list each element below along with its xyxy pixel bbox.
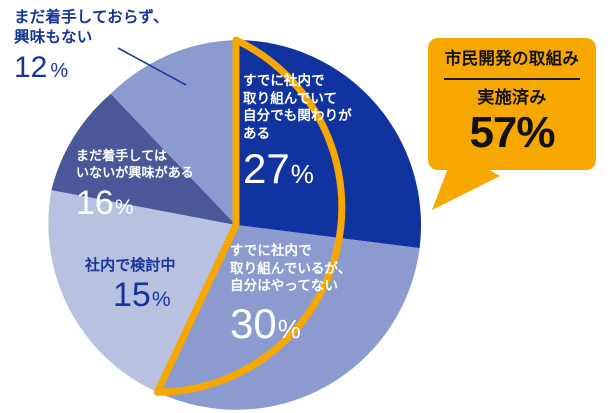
slice-label-already-not-involved: すでに社内で 取り組んでいるが、 自分はやってない 30% (230, 242, 405, 345)
chart-canvas: まだ着手しておらず、 興味もない 12% すでに社内で 取り組んでいて 自分でも… (0, 0, 613, 413)
slice-number: 12 (14, 51, 47, 84)
percent-sign: % (152, 288, 171, 311)
callout-divider (444, 78, 580, 80)
slice-number: 15 (113, 276, 151, 314)
slice-value-not-started-no-interest: 12% (14, 53, 224, 83)
percent-sign: % (278, 314, 301, 344)
slice-label-text-line-1: すでに社内で (230, 242, 405, 260)
slice-value-already-involved: 27% (243, 148, 403, 190)
slice-number: 16 (76, 184, 114, 222)
slice-label-text-line-1: 社内で検討中 (85, 256, 225, 276)
slice-label-text-line-2: 取り組んでいるが、 (230, 260, 405, 278)
callout-title: 市民開発の取組み (438, 50, 586, 70)
slice-label-text-line-3: 自分はやってない (230, 277, 405, 295)
slice-value-under-consideration: 15% (113, 278, 225, 312)
slice-label-already-involved: すでに社内で 取り組んでいて 自分でも関わりが ある 27% (243, 72, 403, 190)
slice-label-text-line-1: まだ着手しておらず、 (14, 8, 224, 28)
slice-label-text-line-4: ある (243, 125, 403, 143)
slice-value-not-started-interested: 16% (76, 186, 226, 220)
slice-label-not-started-interested: まだ着手しては いないが興味がある 16% (76, 148, 226, 220)
slice-label-text-line-3: 自分でも関わりが (243, 107, 403, 125)
callout-subtitle: 実施済み (438, 88, 586, 108)
slice-label-text-line-1: まだ着手しては (76, 148, 226, 165)
slice-label-text-line-2: いないが興味がある (76, 165, 226, 182)
slice-label-not-started-no-interest: まだ着手しておらず、 興味もない 12% (14, 8, 224, 83)
highlight-callout: 市民開発の取組み 実施済み 57% (428, 38, 596, 170)
slice-value-already-not-involved: 30% (230, 303, 405, 345)
slice-number: 27 (243, 145, 290, 192)
percent-sign: % (291, 159, 314, 189)
callout-value: 57% (438, 110, 586, 156)
slice-label-under-consideration: 社内で検討中 15% (85, 256, 225, 312)
percent-sign: % (50, 60, 68, 82)
slice-number: 30 (230, 300, 277, 347)
slice-label-text-line-2: 取り組んでいて (243, 90, 403, 108)
slice-label-text-line-2: 興味もない (14, 28, 224, 48)
percent-sign: % (115, 196, 134, 219)
slice-label-text-line-1: すでに社内で (243, 72, 403, 90)
